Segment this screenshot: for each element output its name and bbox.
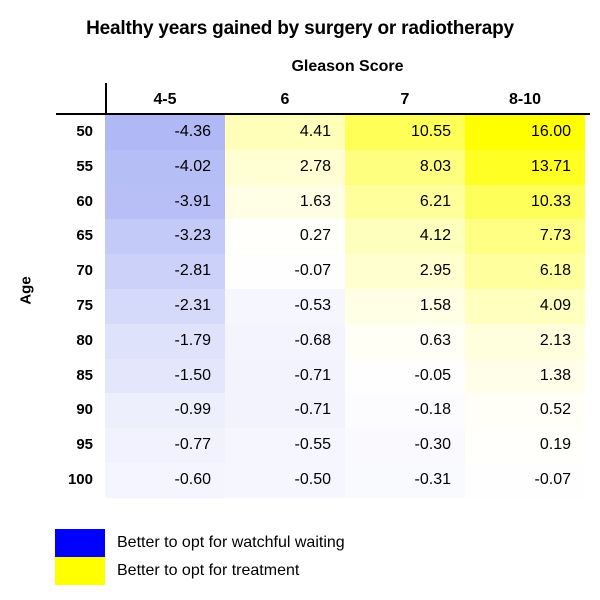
heatmap-cell: 16.00 [465, 115, 585, 150]
table-row: 75-2.31-0.531.584.09 [0, 289, 590, 324]
table-row: 55-4.022.788.0313.71 [0, 150, 590, 185]
row-label: 100 [0, 463, 105, 498]
legend-swatch [55, 529, 105, 557]
heatmap-cell: -0.71 [225, 359, 345, 394]
column-header: 8-10 [465, 88, 585, 112]
legend-item: Better to opt for watchful waiting [55, 529, 345, 557]
heatmap-cell: 0.19 [465, 428, 585, 463]
table-row: 80-1.79-0.680.632.13 [0, 324, 590, 359]
table-row: 85-1.50-0.71-0.051.38 [0, 359, 590, 394]
heatmap-cell: -0.18 [345, 393, 465, 428]
heatmap-cell: 6.21 [345, 185, 465, 220]
heatmap-cell: -4.02 [105, 150, 225, 185]
heatmap-cell: -0.99 [105, 393, 225, 428]
heatmap-cell: 2.78 [225, 150, 345, 185]
table-row: 100-0.60-0.50-0.31-0.07 [0, 463, 590, 498]
column-axis-title: Gleason Score [105, 58, 590, 76]
row-label: 65 [0, 219, 105, 254]
heatmap-cell: 0.52 [465, 393, 585, 428]
heatmap-cell: -0.71 [225, 393, 345, 428]
legend-swatch [55, 557, 105, 585]
header-vertical-rule [105, 83, 107, 113]
heatmap-cell: 13.71 [465, 150, 585, 185]
heatmap-cell: -2.81 [105, 254, 225, 289]
heatmap-cell: -1.50 [105, 359, 225, 394]
heatmap-cell: 6.18 [465, 254, 585, 289]
column-header: 4-5 [105, 88, 225, 112]
legend-label: Better to opt for watchful waiting [117, 534, 345, 552]
heatmap-cell: -0.77 [105, 428, 225, 463]
heatmap-cell: 4.09 [465, 289, 585, 324]
legend: Better to opt for watchful waitingBetter… [55, 529, 345, 585]
heatmap-cell: -3.23 [105, 219, 225, 254]
heatmap-cell: 10.55 [345, 115, 465, 150]
heatmap-cell: 0.63 [345, 324, 465, 359]
heatmap-cell: -0.50 [225, 463, 345, 498]
heatmap-cell: 8.03 [345, 150, 465, 185]
row-label: 90 [0, 393, 105, 428]
heatmap-cell: -3.91 [105, 185, 225, 220]
legend-label: Better to opt for treatment [117, 562, 299, 580]
row-label: 70 [0, 254, 105, 289]
heatmap-cell: 2.13 [465, 324, 585, 359]
legend-item: Better to opt for treatment [55, 557, 345, 585]
heatmap-cell: -0.05 [345, 359, 465, 394]
table-row: 95-0.77-0.55-0.300.19 [0, 428, 590, 463]
heatmap-cell: 4.12 [345, 219, 465, 254]
row-label: 50 [0, 115, 105, 150]
row-label: 60 [0, 185, 105, 220]
heatmap-cell: -0.68 [225, 324, 345, 359]
column-header: 7 [345, 88, 465, 112]
heatmap-cell: 0.27 [225, 219, 345, 254]
table-row: 50-4.364.4110.5516.00 [0, 115, 590, 150]
page-title: Healthy years gained by surgery or radio… [0, 18, 600, 40]
row-label: 75 [0, 289, 105, 324]
heatmap-cell: -1.79 [105, 324, 225, 359]
heatmap-cell: -0.31 [345, 463, 465, 498]
heatmap-cell: 1.38 [465, 359, 585, 394]
heatmap-cell: -2.31 [105, 289, 225, 324]
heatmap-cell: 10.33 [465, 185, 585, 220]
heatmap-cell: 1.63 [225, 185, 345, 220]
table-row: 70-2.81-0.072.956.18 [0, 254, 590, 289]
heatmap-cell: -0.07 [465, 463, 585, 498]
column-header: 6 [225, 88, 345, 112]
heatmap-cell: -0.53 [225, 289, 345, 324]
column-header-row: 4-5678-10 [105, 88, 590, 112]
row-label: 80 [0, 324, 105, 359]
heatmap-cell: 1.58 [345, 289, 465, 324]
heatmap-cell: -0.30 [345, 428, 465, 463]
row-label: 95 [0, 428, 105, 463]
heatmap-cell: -4.36 [105, 115, 225, 150]
row-label: 85 [0, 359, 105, 394]
table-row: 65-3.230.274.127.73 [0, 219, 590, 254]
heatmap-grid: 50-4.364.4110.5516.0055-4.022.788.0313.7… [0, 115, 590, 498]
table-row: 90-0.99-0.71-0.180.52 [0, 393, 590, 428]
heatmap-cell: 4.41 [225, 115, 345, 150]
heatmap-cell: 2.95 [345, 254, 465, 289]
heatmap-cell: -0.55 [225, 428, 345, 463]
table-row: 60-3.911.636.2110.33 [0, 185, 590, 220]
heatmap-cell: 7.73 [465, 219, 585, 254]
heatmap-cell: -0.07 [225, 254, 345, 289]
heatmap-cell: -0.60 [105, 463, 225, 498]
row-label: 55 [0, 150, 105, 185]
